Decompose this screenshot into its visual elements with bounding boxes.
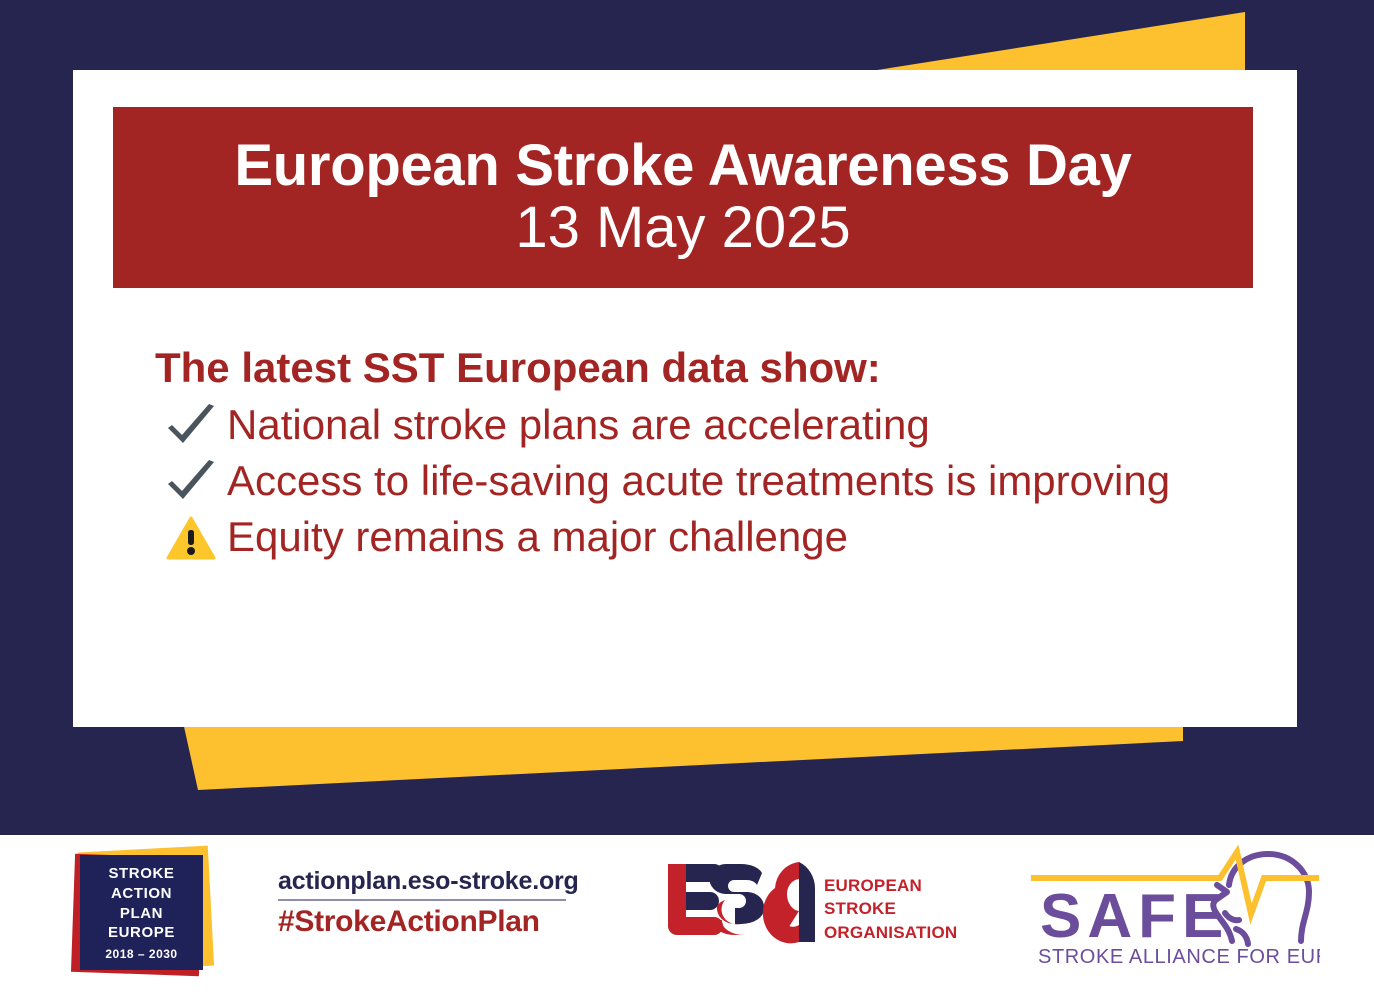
sap-line-4: EUROPE (108, 923, 175, 943)
eso-wordmark: EUROPEAN STROKE ORGANISATION (824, 874, 957, 944)
stroke-action-plan-logo[interactable]: STROKE ACTION PLAN EUROPE 2018 – 2030 (63, 849, 223, 974)
poster-title: European Stroke Awareness Day (234, 135, 1131, 196)
list-item-label: Equity remains a major challenge (227, 510, 1245, 564)
sap-line-2: ACTION (111, 884, 172, 904)
list-item: Equity remains a major challenge (155, 510, 1245, 564)
list-item: National stroke plans are accelerating (155, 398, 1245, 452)
eso-monogram-icon (664, 858, 819, 946)
footer-bar: STROKE ACTION PLAN EUROPE 2018 – 2030 ac… (0, 835, 1374, 1000)
sap-line-3: PLAN (120, 904, 163, 924)
safe-mark-label: SAFE (1320, 845, 1321, 846)
safe-wordmark: SAFE (1040, 882, 1229, 951)
eso-word-2: STROKE (824, 897, 957, 920)
safe-tagline: STROKE ALLIANCE FOR EUROPE (1038, 946, 1320, 968)
lead-statement: The latest SST European data show: (155, 343, 1245, 392)
sap-line-1: STROKE (108, 864, 174, 884)
warning-icon (155, 510, 227, 561)
safe-logo[interactable]: SAFE STROKE ALLIANCE FOR EUROPE SAFE STR… (1030, 845, 1320, 970)
list-item: Access to life-saving acute treatments i… (155, 454, 1245, 508)
check-icon (155, 398, 227, 450)
sap-years: 2018 – 2030 (105, 947, 177, 961)
white-content-card: European Stroke Awareness Day 13 May 202… (73, 70, 1297, 727)
body-content: The latest SST European data show: Natio… (155, 343, 1245, 567)
sap-navy-layer: STROKE ACTION PLAN EUROPE 2018 – 2030 (80, 855, 203, 970)
divider (278, 899, 566, 901)
list-item-label: National stroke plans are accelerating (227, 398, 1245, 452)
eso-word-1: EUROPEAN (824, 874, 957, 897)
poster-date: 13 May 2025 (515, 197, 850, 260)
url-block: actionplan.eso-stroke.org #StrokeActionP… (278, 867, 578, 939)
safe-tagline-label: STROKE ALLIANCE FOR EUROPE (1320, 845, 1321, 846)
website-url[interactable]: actionplan.eso-stroke.org (278, 867, 578, 896)
title-banner: European Stroke Awareness Day 13 May 202… (113, 107, 1253, 288)
eso-logo[interactable]: EUROPEAN STROKE ORGANISATION (664, 858, 964, 948)
check-icon (155, 454, 227, 506)
hashtag[interactable]: #StrokeActionPlan (278, 905, 578, 939)
list-item-label: Access to life-saving acute treatments i… (227, 454, 1245, 508)
poster-canvas: European Stroke Awareness Day 13 May 202… (0, 0, 1374, 1000)
eso-word-3: ORGANISATION (824, 921, 957, 944)
